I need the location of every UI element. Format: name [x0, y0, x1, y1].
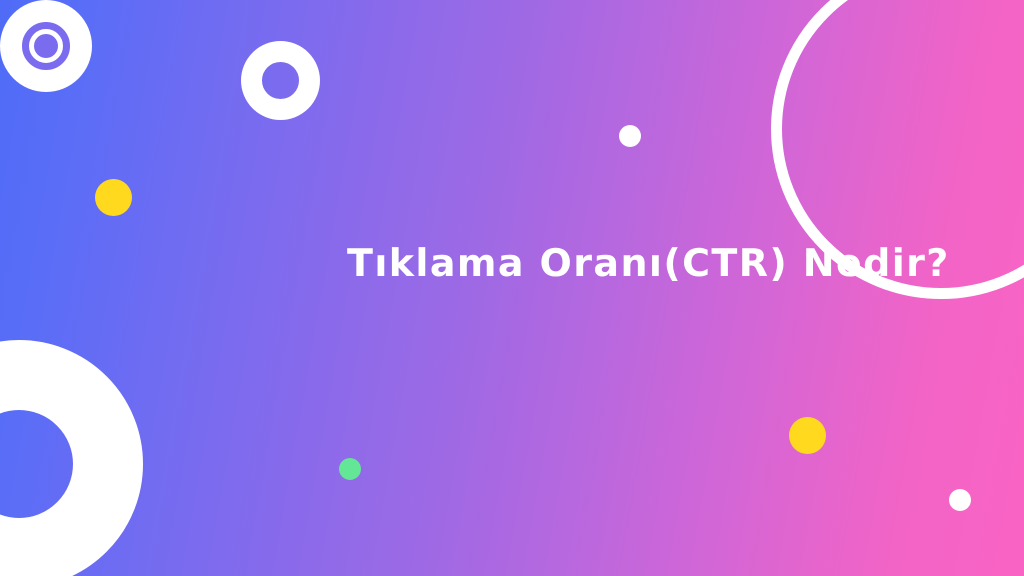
bullseye-center-dot: [34, 34, 58, 58]
decorative-dot-green-icon: [339, 458, 361, 480]
banner-canvas: Tıklama Oranı(CTR) Nedir?: [0, 0, 1024, 576]
decorative-ring-bottom-left-icon: [0, 340, 143, 576]
bullseye-target-icon: [0, 0, 92, 92]
decorative-dot-white-top-icon: [619, 125, 641, 147]
decorative-dot-white-bottom-icon: [949, 489, 971, 511]
banner-title: Tıklama Oranı(CTR) Nedir?: [347, 240, 950, 286]
decorative-dot-yellow-right-icon: [789, 417, 826, 454]
decorative-dot-yellow-left-icon: [95, 179, 132, 216]
decorative-donut-icon: [241, 41, 320, 120]
